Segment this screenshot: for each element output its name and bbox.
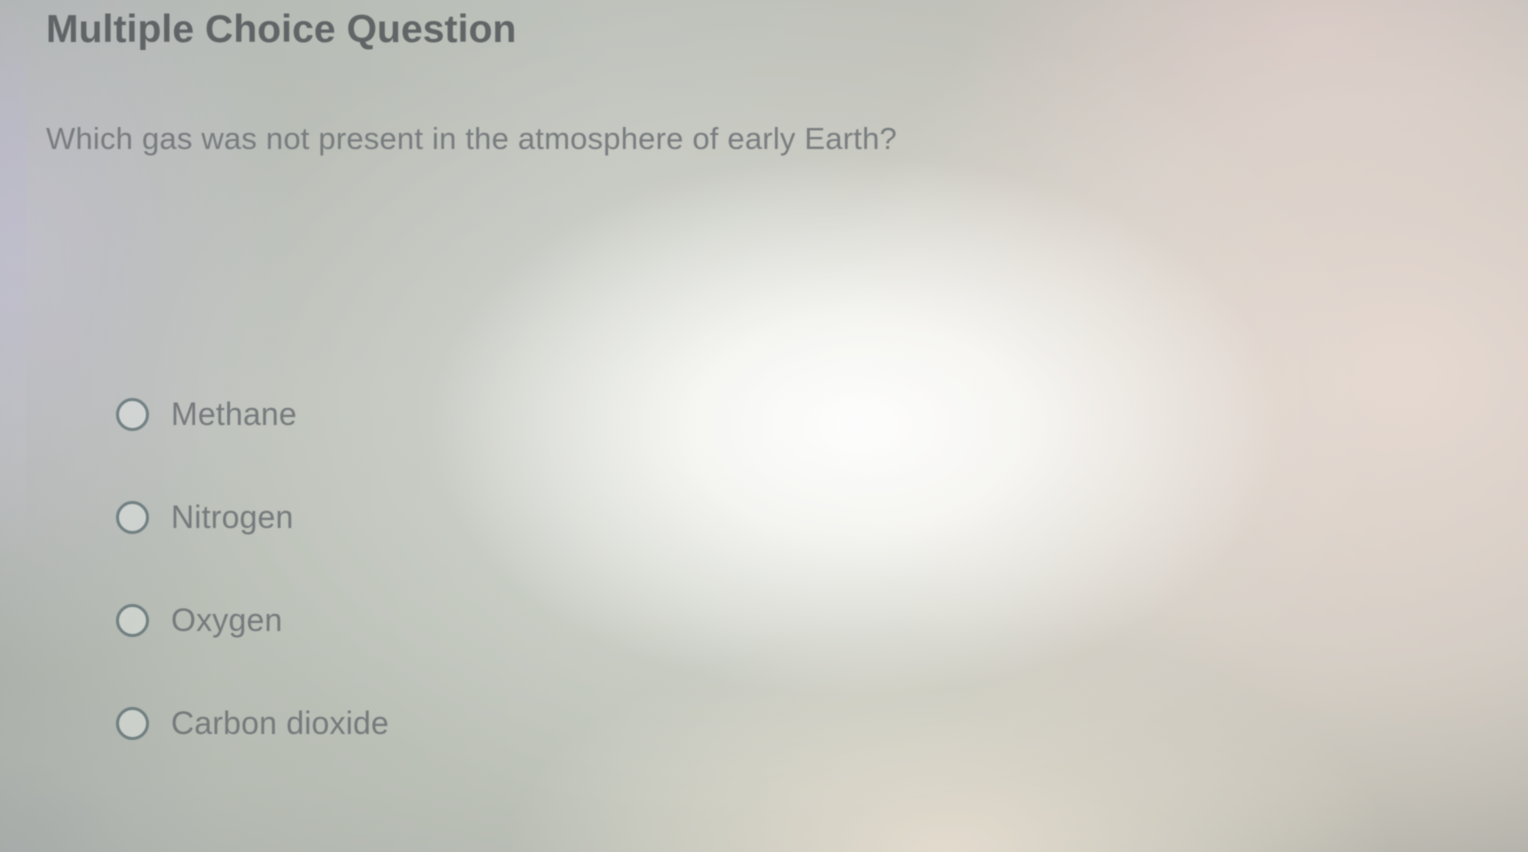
option-label: Nitrogen — [171, 499, 294, 536]
option-label: Methane — [171, 396, 297, 433]
radio-button-icon[interactable] — [116, 707, 149, 740]
quiz-content: Multiple Choice Question Which gas was n… — [0, 0, 1528, 852]
option-label: Carbon dioxide — [171, 705, 389, 742]
option-carbon-dioxide[interactable]: Carbon dioxide — [116, 693, 1016, 753]
option-oxygen[interactable]: Oxygen — [116, 590, 1016, 650]
page-title: Multiple Choice Question — [46, 8, 516, 52]
option-nitrogen[interactable]: Nitrogen — [116, 487, 1016, 547]
option-label: Oxygen — [171, 602, 282, 639]
radio-button-icon[interactable] — [116, 501, 149, 534]
question-text: Which gas was not present in the atmosph… — [46, 121, 897, 157]
option-methane[interactable]: Methane — [116, 384, 1016, 444]
radio-button-icon[interactable] — [116, 604, 149, 637]
radio-button-icon[interactable] — [116, 398, 149, 431]
quiz-screen: Multiple Choice Question Which gas was n… — [0, 0, 1528, 852]
answer-options-list: Methane Nitrogen Oxygen Carbon dioxide — [116, 384, 1016, 796]
